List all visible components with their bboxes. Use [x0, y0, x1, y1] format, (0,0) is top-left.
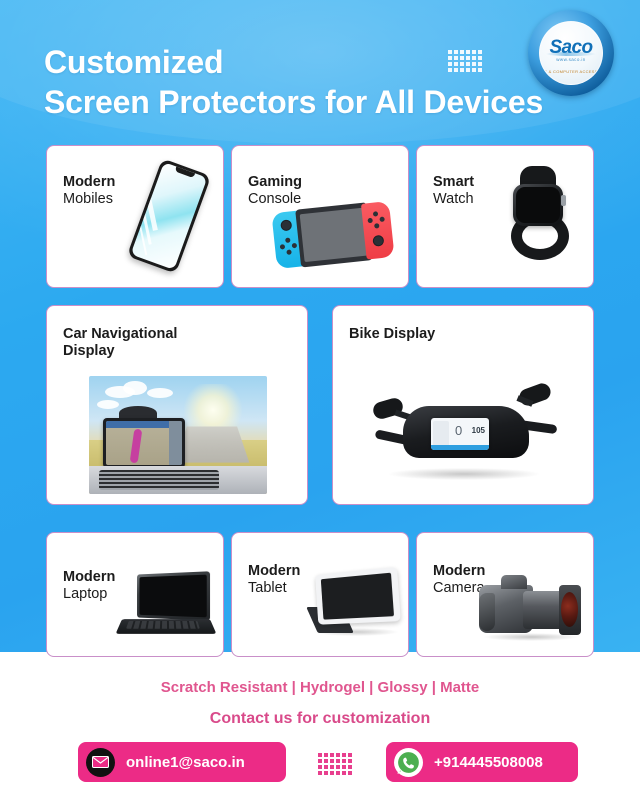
card-gaming-console[interactable]: Gaming Console	[231, 145, 409, 288]
laptop-keyboard	[126, 621, 200, 629]
logo-swoosh	[546, 52, 596, 56]
game-console-art	[274, 206, 392, 264]
smartphone-art	[143, 164, 195, 268]
dot-grid-icon	[318, 753, 352, 775]
logo-inner: Saco www.saco.in MOBILE & COMPUTER ACCES…	[539, 21, 603, 85]
carnav-image	[89, 376, 267, 494]
laptop-art	[119, 573, 215, 637]
envelope-icon	[86, 748, 115, 777]
email-contact-button[interactable]: online1@saco.in	[78, 742, 286, 782]
logo-tagline: MOBILE & COMPUTER ACCESSORIES	[539, 69, 603, 74]
tablet-art	[308, 571, 398, 633]
poster-root: Customized Screen Protectors for All Dev…	[0, 0, 640, 800]
card-car-navigational-display[interactable]: Car Navigational Display	[46, 305, 308, 505]
card-title-regular: Tablet	[248, 580, 300, 597]
camera-body	[479, 575, 583, 637]
card-title-bold: Bike Display	[349, 326, 435, 343]
car-navigation-photo	[89, 376, 267, 494]
bike-dashboard-photo: 0 105	[365, 372, 561, 490]
card-title: Bike Display	[349, 326, 435, 343]
smartwatch-body	[503, 166, 577, 262]
gps-device	[103, 418, 185, 468]
camera-grip	[479, 593, 495, 631]
tablet-frame	[315, 567, 401, 625]
card-title: Smart Watch	[433, 174, 474, 208]
smartphone-screen	[131, 162, 208, 270]
car-dashboard	[89, 466, 267, 494]
whatsapp-contact-button[interactable]: +914445508008	[386, 742, 578, 782]
card-title-regular: Watch	[433, 191, 474, 208]
switch-console	[271, 200, 394, 270]
card-title-bold: Modern	[63, 174, 115, 191]
camera-prism	[501, 575, 527, 589]
smartphone-notch	[175, 167, 196, 179]
logo-website: www.saco.in	[556, 57, 585, 62]
card-title: Modern Tablet	[248, 563, 300, 597]
card-smart-watch[interactable]: Smart Watch	[416, 145, 594, 288]
card-title-regular: Mobiles	[63, 191, 115, 208]
bike-screen: 0 105	[431, 418, 489, 450]
card-title-bold: Modern	[248, 563, 300, 580]
header: Customized Screen Protectors for All Dev…	[0, 0, 640, 140]
watch-face	[516, 187, 560, 223]
card-title-bold-2: Display	[63, 343, 177, 360]
smartwatch-art	[503, 166, 577, 262]
joycon-right	[361, 201, 395, 260]
tablet-screen	[321, 573, 394, 620]
card-modern-camera[interactable]: Modern Camera	[416, 532, 594, 657]
phone-number: +914445508008	[434, 754, 543, 771]
laptop-screen	[140, 575, 207, 618]
bike-mirror-right	[517, 381, 553, 408]
card-title: Modern Camera	[433, 563, 485, 597]
features-text: Scratch Resistant | Hydrogel | Glossy | …	[0, 679, 640, 696]
card-modern-mobiles[interactable]: Modern Mobiles	[46, 145, 224, 288]
laptop-body	[119, 573, 215, 637]
smartphone-body	[127, 158, 211, 274]
card-modern-laptop[interactable]: Modern Laptop	[46, 532, 224, 657]
email-address: online1@saco.in	[126, 754, 245, 771]
card-title-regular: Camera	[433, 580, 485, 597]
gps-screen	[106, 421, 182, 465]
watch-crown	[561, 195, 566, 206]
dot-grid-icon	[448, 50, 482, 72]
air-vent	[99, 470, 219, 490]
card-title: Car Navigational Display	[63, 326, 177, 360]
card-title: Modern Laptop	[63, 569, 115, 603]
laptop-base	[116, 619, 217, 634]
bike-image: 0 105	[365, 372, 561, 490]
card-bike-display[interactable]: Bike Display 0 105	[332, 305, 594, 505]
contact-prompt-text: Contact us for customization	[0, 710, 640, 728]
camera-lens-glass	[561, 592, 578, 627]
watch-case	[513, 184, 563, 226]
whatsapp-icon	[394, 748, 423, 777]
laptop-lid	[137, 571, 210, 620]
card-title-bold: Car Navigational	[63, 326, 177, 343]
card-title-bold: Gaming	[248, 174, 302, 191]
tablet-body	[308, 571, 398, 633]
card-modern-tablet[interactable]: Modern Tablet	[231, 532, 409, 657]
card-title-regular: Laptop	[63, 586, 115, 603]
card-title-bold: Smart	[433, 174, 474, 191]
road	[174, 426, 249, 462]
saco-logo: Saco www.saco.in MOBILE & COMPUTER ACCES…	[528, 10, 614, 96]
camera-art	[479, 575, 583, 637]
card-title: Gaming Console	[248, 174, 302, 208]
card-title-bold: Modern	[63, 569, 115, 586]
card-title: Modern Mobiles	[63, 174, 115, 208]
card-title-bold: Modern	[433, 563, 485, 580]
